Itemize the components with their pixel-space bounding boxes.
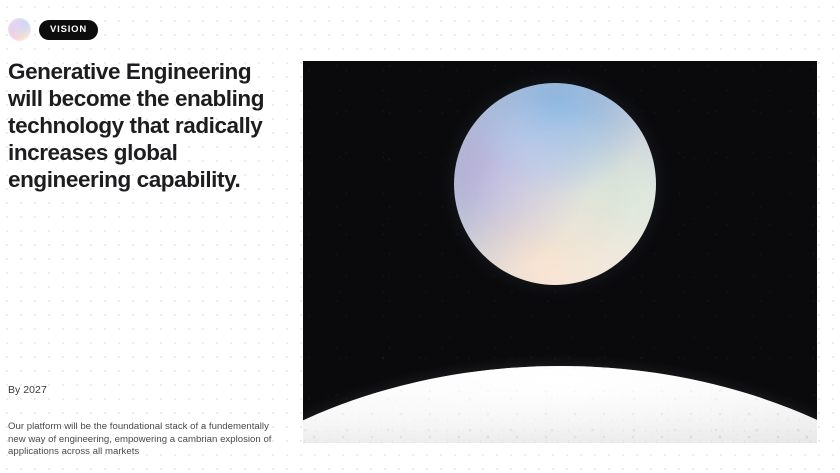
page-title: Generative Engineering will become the e…: [8, 58, 280, 193]
vision-slide: VISION Generative Engineering will becom…: [0, 0, 840, 473]
timeline-label: By 2027: [8, 383, 298, 397]
brand-lockup: VISION: [8, 18, 98, 41]
moon-limb-highlight: [303, 366, 817, 443]
footnote-description: Our platform will be the foundational st…: [8, 421, 276, 459]
grayscale-moon-limb-icon: [303, 366, 817, 443]
pastel-gradient-planet-icon: [454, 83, 656, 285]
footnote-block: By 2027 Our platform will be the foundat…: [8, 383, 298, 459]
planet-highlight: [454, 83, 656, 285]
gradient-sphere-logo-icon: [8, 18, 31, 41]
status-badge: VISION: [39, 20, 98, 40]
hero-image: [303, 61, 817, 443]
